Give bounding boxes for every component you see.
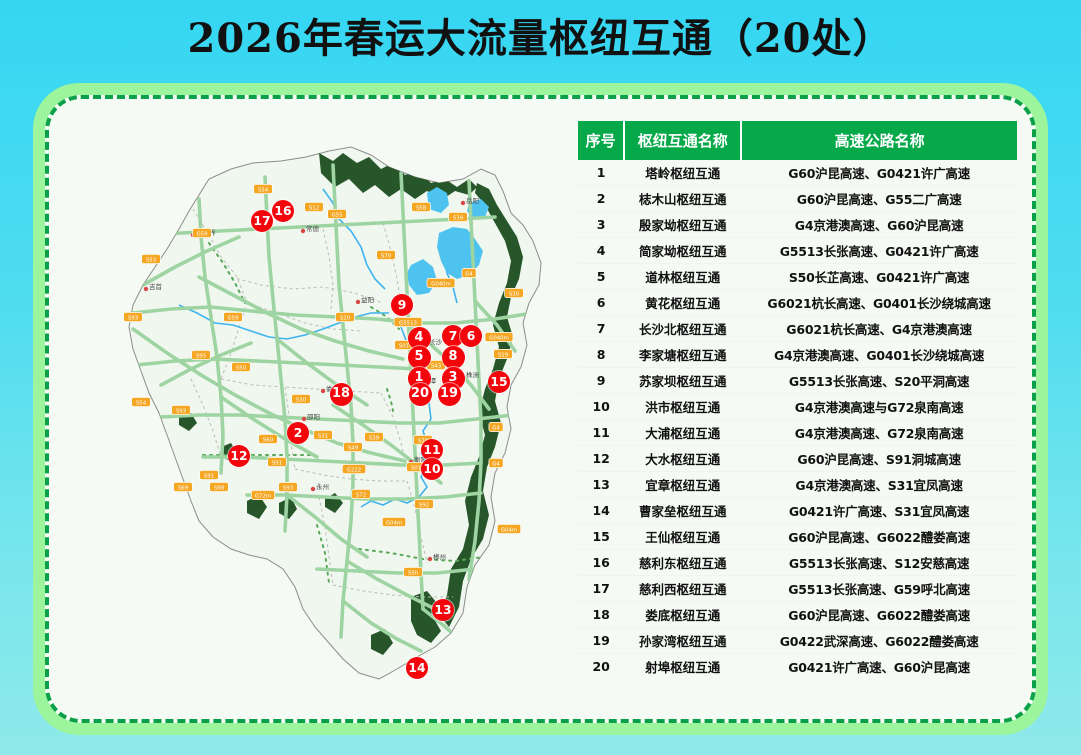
row-hub-name: 梽木山枢纽互通 — [624, 186, 741, 212]
hub-marker-15[interactable]: 15 — [488, 371, 510, 393]
highway-shield: S69 — [174, 482, 193, 491]
highway-shield-label: S60 — [263, 437, 274, 443]
highway-shield: S39 — [365, 432, 384, 441]
row-hub-name: 道林枢纽互通 — [624, 264, 741, 290]
highway-shield-label: S39 — [369, 435, 380, 441]
column-header-index: 序号 — [578, 121, 624, 160]
row-road-name: G4京港澳高速、G72泉南高速 — [741, 420, 1017, 446]
highway-shield-label: S98 — [214, 485, 225, 491]
row-road-name: G0422武深高速、G6022醴娄高速 — [741, 628, 1017, 654]
row-hub-name: 射埠枢纽互通 — [624, 654, 741, 680]
highway-shield-label: G4 — [492, 461, 500, 467]
highway-shield-label: G59 — [196, 231, 208, 237]
hub-marker-18[interactable]: 18 — [330, 383, 353, 406]
row-hub-name: 长沙北枢纽互通 — [624, 316, 741, 342]
highway-shield: S54 — [132, 397, 151, 406]
row-index: 10 — [578, 394, 624, 420]
highway-shield-label: G04m — [386, 520, 402, 526]
highway-shield: S91 — [200, 470, 219, 479]
row-road-name: G6021杭长高速、G4京港澳高速 — [741, 316, 1017, 342]
city-label: 郴州 — [433, 552, 446, 561]
row-road-name: G4京港澳高速、G0401长沙绕城高速 — [741, 342, 1017, 368]
table-row[interactable]: 17慈利西枢纽互通G5513长张高速、G59呼北高速 — [578, 576, 1017, 602]
highway-shield-label: S30 — [296, 397, 307, 403]
highway-shield: G55 — [328, 209, 347, 218]
row-hub-name: 宜章枢纽互通 — [624, 472, 741, 498]
highway-shield: G040m — [427, 278, 455, 287]
row-hub-name: 慈利西枢纽互通 — [624, 576, 741, 602]
row-road-name: G60沪昆高速、G6022醴娄高速 — [741, 602, 1017, 628]
highway-shield-label: S43 — [431, 363, 441, 369]
highway-shield-label: S39 — [453, 215, 464, 221]
table-row[interactable]: 18娄底枢纽互通G60沪昆高速、G6022醴娄高速 — [578, 602, 1017, 628]
highway-shield: S93 — [172, 405, 191, 414]
highway-shield-label: S50 — [236, 365, 247, 371]
hub-table-head: 序号 枢纽互通名称 高速公路名称 — [578, 121, 1017, 160]
highway-shield-label: S95 — [196, 353, 206, 359]
row-road-name: G60沪昆高速、G55二广高速 — [741, 186, 1017, 212]
highway-shield-label: G55 — [331, 212, 342, 218]
row-hub-name: 孙家湾枢纽互通 — [624, 628, 741, 654]
highway-shield-label: G59 — [227, 315, 239, 321]
row-index: 15 — [578, 524, 624, 550]
row-index: 9 — [578, 368, 624, 394]
table-row[interactable]: 7长沙北枢纽互通G6021杭长高速、G4京港澳高速 — [578, 316, 1017, 342]
row-index: 4 — [578, 238, 624, 264]
row-index: 13 — [578, 472, 624, 498]
highway-shield-label: S91 — [204, 473, 214, 479]
highway-shield-label: G040m — [431, 281, 451, 287]
row-index: 20 — [578, 654, 624, 680]
table-row[interactable]: 3殷家坳枢纽互通G4京港澳高速、G60沪昆高速 — [578, 212, 1017, 238]
highway-shield-label: S19 — [498, 352, 509, 358]
city-label: 长沙 — [429, 337, 443, 346]
highway-shield-label: S5h — [408, 570, 418, 576]
row-hub-name: 李家塘枢纽互通 — [624, 342, 741, 368]
row-hub-name: 塔岭枢纽互通 — [624, 160, 741, 186]
row-road-name: G60沪昆高速、G6022醴娄高速 — [741, 524, 1017, 550]
highway-shield: S54 — [254, 184, 273, 193]
highway-shield-label: S72 — [356, 492, 366, 498]
table-row[interactable]: 2梽木山枢纽互通G60沪昆高速、G55二广高速 — [578, 186, 1017, 212]
hub-marker-10[interactable]: 10 — [421, 458, 443, 480]
highway-shield: S39 — [449, 212, 468, 221]
highway-shield-label: S93 — [128, 315, 138, 321]
highway-shield: S49 — [344, 442, 363, 451]
highway-shield-label: S58 — [416, 205, 427, 211]
row-index: 12 — [578, 446, 624, 472]
table-row[interactable]: 20射埠枢纽互通G0421许广高速、G60沪昆高速 — [578, 654, 1017, 680]
row-hub-name: 曹家垒枢纽互通 — [624, 498, 741, 524]
table-header-row: 序号 枢纽互通名称 高速公路名称 — [578, 121, 1017, 160]
row-road-name: G4京港澳高速、G60沪昆高速 — [741, 212, 1017, 238]
table-row[interactable]: 10洪市枢纽互通G4京港澳高速与G72泉南高速 — [578, 394, 1017, 420]
highway-shield: G59 — [193, 228, 212, 237]
table-row[interactable]: 9苏家坝枢纽互通G5513长张高速、S20平洞高速 — [578, 368, 1017, 394]
row-hub-name: 大水枢纽互通 — [624, 446, 741, 472]
hub-marker-17[interactable]: 17 — [251, 210, 273, 232]
highway-shield: S70 — [377, 250, 396, 259]
highway-shield: G4 — [489, 458, 503, 467]
highway-shield-label: S92 — [419, 502, 429, 508]
table-row[interactable]: 15王仙枢纽互通G60沪昆高速、G6022醴娄高速 — [578, 524, 1017, 550]
page-title: 2026年春运大流量枢纽互通（20处） — [0, 8, 1081, 70]
highway-shield-label: G4 — [492, 425, 500, 431]
highway-shield: S50 — [232, 362, 251, 371]
city-label: 邵阳 — [307, 412, 320, 421]
highway-shield: S5h — [404, 567, 423, 576]
highway-shield: S95 — [192, 350, 211, 359]
row-road-name: G5513长张高速、S20平洞高速 — [741, 368, 1017, 394]
content-panel-inner: 张家界常德岳阳益阳吉首长沙株洲湘潭娄底邵阳衡阳永州郴州 S54S12G55S58… — [45, 95, 1036, 723]
row-road-name: G0421许广高速、S31宜凤高速 — [741, 498, 1017, 524]
row-index: 18 — [578, 602, 624, 628]
highway-shield: S91 — [268, 457, 287, 466]
row-index: 7 — [578, 316, 624, 342]
highway-shield-label: G04m — [501, 527, 517, 533]
row-index: 8 — [578, 342, 624, 368]
highway-shield-label: S53 — [146, 257, 156, 263]
highway-shield-label: S69 — [178, 485, 189, 491]
city-label: 永州 — [316, 482, 329, 491]
highway-shield: S20 — [336, 312, 355, 321]
hub-table-container: 序号 枢纽互通名称 高速公路名称 1塔岭枢纽互通G60沪昆高速、G0421许广高… — [578, 121, 1017, 679]
highway-shield-label: S93 — [176, 408, 186, 414]
row-road-name: G4京港澳高速与G72泉南高速 — [741, 394, 1017, 420]
row-road-name: G6021杭长高速、G0401长沙绕城高速 — [741, 290, 1017, 316]
row-road-name: G5513长张高速、S12安慈高速 — [741, 550, 1017, 576]
row-hub-name: 王仙枢纽互通 — [624, 524, 741, 550]
table-row[interactable]: 12大水枢纽互通G60沪昆高速、S91洞城高速 — [578, 446, 1017, 472]
hub-marker-19[interactable]: 19 — [438, 383, 461, 406]
highway-shield: G72m — [251, 490, 274, 499]
highway-shield-label: G5513 — [399, 320, 417, 326]
highway-shield: G04m — [497, 524, 520, 533]
hub-marker-13[interactable]: 13 — [432, 599, 454, 621]
row-hub-name: 殷家坳枢纽互通 — [624, 212, 741, 238]
highway-shield: G040m — [485, 332, 513, 341]
row-road-name: G0421许广高速、G60沪昆高速 — [741, 654, 1017, 680]
row-road-name: G4京港澳高速、S31宜凤高速 — [741, 472, 1017, 498]
highway-shield: S30 — [505, 288, 524, 297]
city-label: 岳阳 — [466, 196, 479, 205]
highway-shield: S60 — [259, 434, 278, 443]
hub-marker-16[interactable]: 16 — [272, 200, 294, 222]
hub-marker-8[interactable]: 8 — [442, 346, 465, 369]
row-hub-name: 娄底枢纽互通 — [624, 602, 741, 628]
hunan-province-map[interactable]: 张家界常德岳阳益阳吉首长沙株洲湘潭娄底邵阳衡阳永州郴州 S54S12G55S58… — [71, 117, 571, 709]
hub-marker-14[interactable]: 14 — [406, 657, 428, 679]
row-road-name: G5513长张高速、G0421许广高速 — [741, 238, 1017, 264]
highway-shield: S19 — [494, 349, 513, 358]
hub-marker-5[interactable]: 5 — [408, 346, 431, 369]
table-row[interactable]: 8李家塘枢纽互通G4京港澳高速、G0401长沙绕城高速 — [578, 342, 1017, 368]
city-label: 吉首 — [149, 282, 163, 291]
row-index: 1 — [578, 160, 624, 186]
row-index: 19 — [578, 628, 624, 654]
highway-shield: G4 — [489, 422, 503, 431]
table-row[interactable]: 14曹家垒枢纽互通G0421许广高速、S31宜凤高速 — [578, 498, 1017, 524]
row-hub-name: 慈利东枢纽互通 — [624, 550, 741, 576]
highway-shield: G59 — [224, 312, 243, 321]
row-index: 6 — [578, 290, 624, 316]
table-row[interactable]: 5道林枢纽互通S50长芷高速、G0421许广高速 — [578, 264, 1017, 290]
row-road-name: G60沪昆高速、S91洞城高速 — [741, 446, 1017, 472]
row-road-name: S50长芷高速、G0421许广高速 — [741, 264, 1017, 290]
row-hub-name: 简家坳枢纽互通 — [624, 238, 741, 264]
highway-shield: G4 — [462, 268, 476, 277]
column-header-hub-name: 枢纽互通名称 — [624, 121, 741, 160]
highway-shield: S12 — [305, 202, 324, 211]
map-graphic: 张家界常德岳阳益阳吉首长沙株洲湘潭娄底邵阳衡阳永州郴州 S54S12G55S58… — [71, 117, 571, 709]
row-road-name: G5513长张高速、G59呼北高速 — [741, 576, 1017, 602]
row-index: 16 — [578, 550, 624, 576]
highway-shield-label: S91 — [272, 460, 282, 466]
highway-shield-label: S70 — [381, 253, 392, 259]
row-index: 14 — [578, 498, 624, 524]
highway-shield-label: G040m — [489, 335, 509, 341]
hub-marker-9[interactable]: 9 — [391, 294, 413, 316]
row-index: 11 — [578, 420, 624, 446]
highway-shield-label: G4 — [465, 271, 473, 277]
row-hub-name: 苏家坝枢纽互通 — [624, 368, 741, 394]
table-row[interactable]: 16慈利东枢纽互通G5513长张高速、S12安慈高速 — [578, 550, 1017, 576]
row-index: 2 — [578, 186, 624, 212]
column-header-road-name: 高速公路名称 — [741, 121, 1017, 160]
highway-shield-label: S93 — [283, 485, 293, 491]
table-row[interactable]: 4简家坳枢纽互通G5513长张高速、G0421许广高速 — [578, 238, 1017, 264]
row-index: 17 — [578, 576, 624, 602]
highway-shield-label: S54 — [258, 187, 269, 193]
highway-shield: S98 — [210, 482, 229, 491]
highway-shield-label: S12 — [309, 205, 319, 211]
highway-shield-label: S30 — [509, 291, 520, 297]
city-label: 常德 — [306, 224, 320, 233]
highway-shield-label: S31 — [318, 433, 328, 439]
hub-marker-6[interactable]: 6 — [460, 325, 482, 347]
row-road-name: G60沪昆高速、G0421许广高速 — [741, 160, 1017, 186]
city-label: 株洲 — [466, 370, 479, 379]
hub-table: 序号 枢纽互通名称 高速公路名称 1塔岭枢纽互通G60沪昆高速、G0421许广高… — [578, 121, 1017, 679]
row-hub-name: 黄花枢纽互通 — [624, 290, 741, 316]
highway-shield-label: G72m — [255, 493, 271, 499]
highway-shield: S53 — [142, 254, 161, 263]
highway-shield: G222 — [342, 464, 365, 473]
row-hub-name: 大浦枢纽互通 — [624, 420, 741, 446]
table-row[interactable]: 11大浦枢纽互通G4京港澳高速、G72泉南高速 — [578, 420, 1017, 446]
highway-shield-label: S20 — [340, 315, 351, 321]
highway-shield: S30 — [292, 394, 311, 403]
city-label: 益阳 — [361, 295, 374, 304]
hub-table-body: 1塔岭枢纽互通G60沪昆高速、G0421许广高速2梽木山枢纽互通G60沪昆高速、… — [578, 160, 1017, 679]
table-row[interactable]: 1塔岭枢纽互通G60沪昆高速、G0421许广高速 — [578, 160, 1017, 186]
highway-shield: S93 — [124, 312, 143, 321]
table-row[interactable]: 13宜章枢纽互通G4京港澳高速、S31宜凤高速 — [578, 472, 1017, 498]
hub-marker-12[interactable]: 12 — [228, 445, 250, 467]
highway-shield-label: S49 — [348, 445, 359, 451]
highway-shield: S72 — [352, 489, 371, 498]
row-hub-name: 洪市枢纽互通 — [624, 394, 741, 420]
table-row[interactable]: 19孙家湾枢纽互通G0422武深高速、G6022醴娄高速 — [578, 628, 1017, 654]
highway-shield: S93 — [279, 482, 298, 491]
hub-marker-20[interactable]: 20 — [409, 383, 432, 406]
highway-shield-label: S01 — [399, 343, 409, 349]
content-panel: 张家界常德岳阳益阳吉首长沙株洲湘潭娄底邵阳衡阳永州郴州 S54S12G55S58… — [33, 83, 1048, 735]
row-index: 3 — [578, 212, 624, 238]
highway-shield: S31 — [314, 430, 333, 439]
highway-shield: S92 — [415, 499, 434, 508]
table-row[interactable]: 6黄花枢纽互通G6021杭长高速、G0401长沙绕城高速 — [578, 290, 1017, 316]
row-index: 5 — [578, 264, 624, 290]
highway-shield-label: S01 — [411, 465, 421, 471]
hub-marker-2[interactable]: 2 — [287, 422, 309, 444]
highway-shield: S58 — [412, 202, 431, 211]
highway-shield-label: G222 — [347, 467, 361, 473]
highway-shield: G04m — [382, 517, 405, 526]
highway-shield-label: S54 — [136, 400, 147, 406]
highway-shield: G5513 — [394, 317, 422, 326]
